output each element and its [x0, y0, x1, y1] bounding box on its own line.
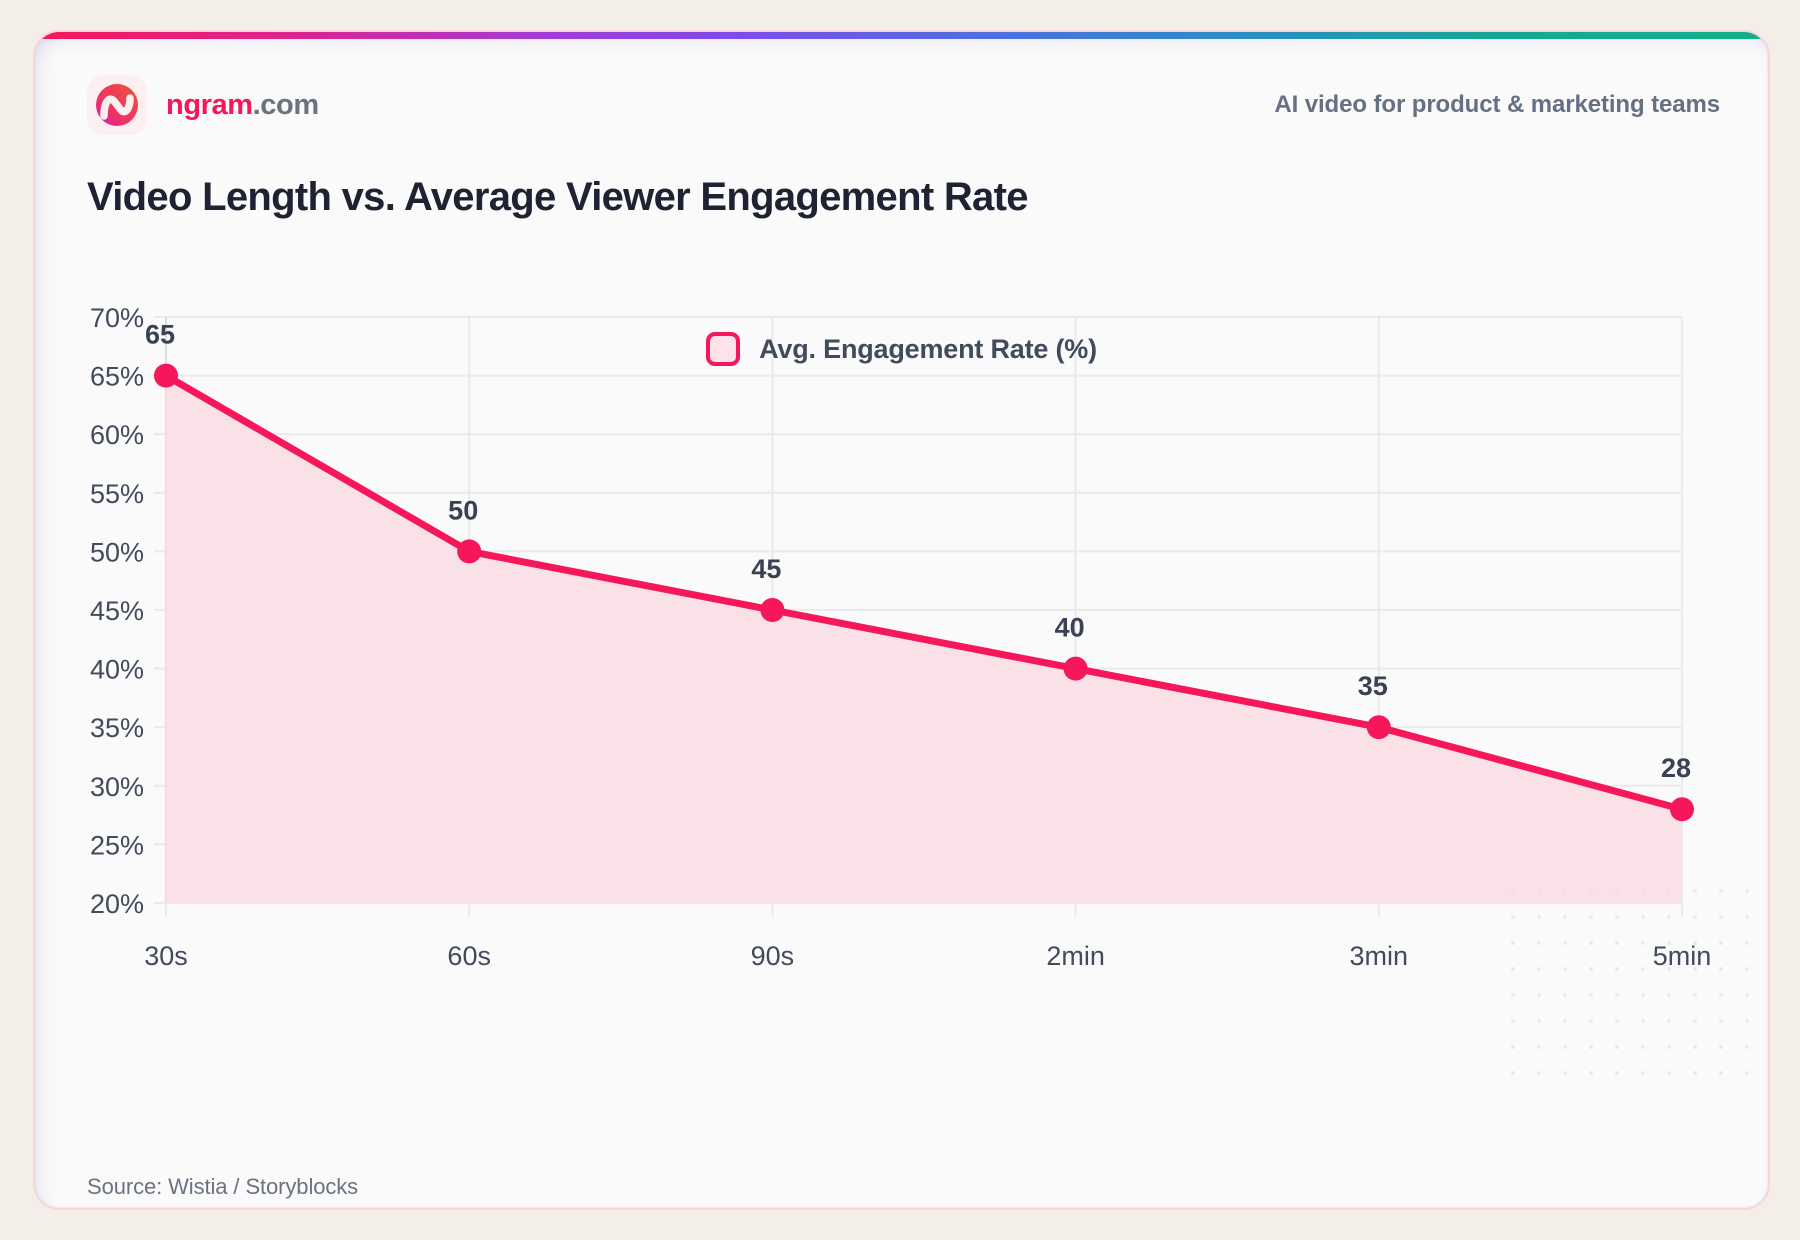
x-axis-tick-label: 90s — [751, 941, 795, 971]
y-axis-tick-label: 45% — [90, 596, 144, 626]
y-axis-tick-label: 65% — [90, 362, 144, 392]
legend-label: Avg. Engagement Rate (%) — [759, 334, 1097, 365]
y-axis-tick-label: 55% — [90, 479, 144, 509]
y-axis-tick-label: 20% — [90, 889, 144, 919]
y-axis-tick-label: 25% — [90, 830, 144, 860]
data-point-marker[interactable] — [760, 598, 784, 622]
y-axis-tick-label: 30% — [90, 772, 144, 802]
x-axis-tick-label: 30s — [144, 941, 188, 971]
data-point-marker[interactable] — [1367, 715, 1391, 739]
y-axis-tick-label: 70% — [90, 303, 144, 333]
x-axis-tick-label: 2min — [1046, 941, 1105, 971]
x-axis-tick-label: 5min — [1653, 941, 1712, 971]
y-axis-tick-label: 40% — [90, 655, 144, 685]
x-axis-tick-label: 60s — [447, 941, 491, 971]
data-point-label: 28 — [1661, 753, 1691, 783]
chart-legend: Avg. Engagement Rate (%) — [35, 332, 1768, 366]
data-point-label: 50 — [448, 495, 478, 525]
y-axis-tick-label: 35% — [90, 713, 144, 743]
legend-swatch-icon — [706, 332, 740, 366]
data-point-label: 35 — [1358, 671, 1388, 701]
line-chart-svg: 20%25%30%35%40%45%50%55%60%65%70%30s60s9… — [35, 32, 1770, 1210]
gradient-accent-bar — [35, 32, 1768, 39]
data-point-marker[interactable] — [457, 539, 481, 563]
data-point-marker[interactable] — [154, 364, 178, 388]
data-point-label: 40 — [1055, 613, 1085, 643]
x-axis-tick-label: 3min — [1350, 941, 1409, 971]
data-point-marker[interactable] — [1064, 657, 1088, 681]
chart-card: ngram.com AI video for product & marketi… — [33, 30, 1770, 1210]
source-note: Source: Wistia / Storyblocks — [87, 1174, 358, 1200]
chart-plot-area: 20%25%30%35%40%45%50%55%60%65%70%30s60s9… — [35, 32, 1770, 1210]
y-axis-tick-label: 50% — [90, 537, 144, 567]
data-point-label: 45 — [751, 554, 781, 584]
data-point-marker[interactable] — [1670, 797, 1694, 821]
y-axis-tick-label: 60% — [90, 420, 144, 450]
